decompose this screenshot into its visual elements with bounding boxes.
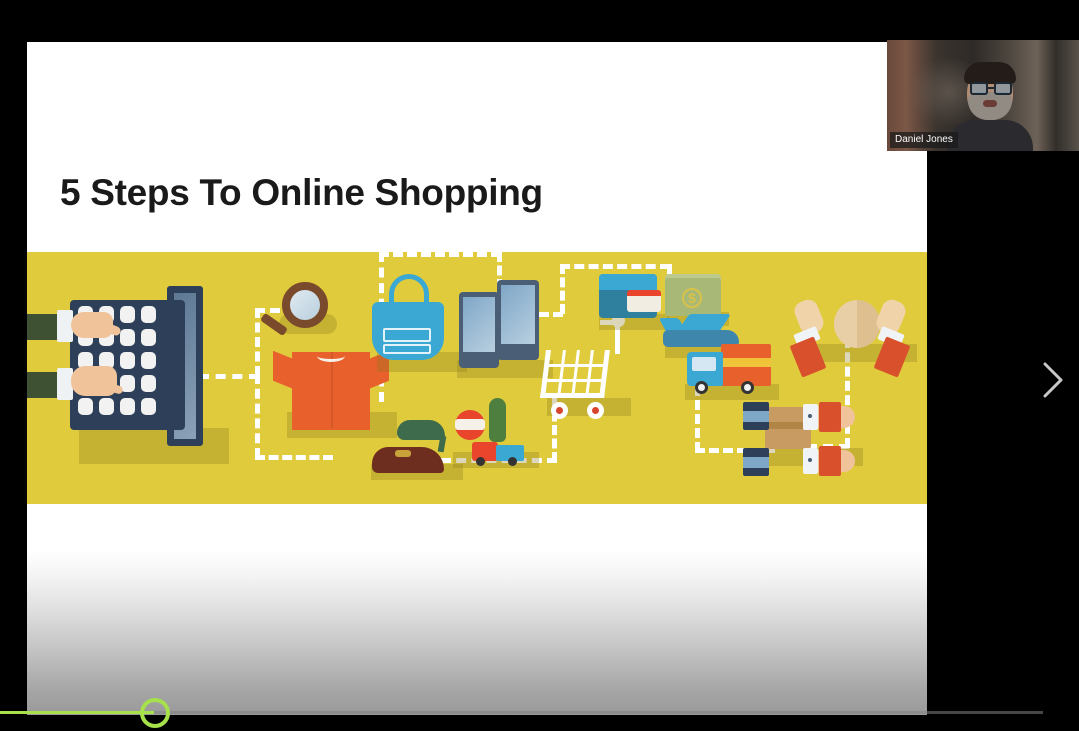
toy-wheel xyxy=(476,457,485,466)
eyeglasses-bridge xyxy=(988,87,994,89)
participant-hair xyxy=(964,62,1016,84)
dashed-path-segment xyxy=(255,374,260,458)
toy-wheel xyxy=(508,457,517,466)
eyeglasses-icon xyxy=(970,82,988,95)
dashed-path-segment xyxy=(560,264,565,314)
sleeve xyxy=(790,336,827,377)
tablet-icon xyxy=(497,280,539,360)
webcam-participant xyxy=(947,62,1033,151)
cuff-button xyxy=(808,414,812,418)
tshirt-seam xyxy=(331,352,333,428)
sleeve xyxy=(819,446,841,476)
search-icon xyxy=(282,282,328,328)
webcam-video-tile[interactable]: Daniel Jones xyxy=(887,40,1079,151)
cart-wheel xyxy=(587,402,604,419)
smartphone-icon xyxy=(459,292,499,368)
box-label xyxy=(743,457,769,468)
wallet-flap xyxy=(599,274,657,290)
shadow xyxy=(79,428,229,464)
dollar-sign-icon: $ xyxy=(682,288,702,308)
bowling-pin-toy-icon xyxy=(489,398,506,442)
sleeve xyxy=(27,314,59,340)
tshirt-collar xyxy=(317,350,345,362)
dashed-path-segment xyxy=(255,308,260,376)
high-heel-shoe-icon xyxy=(397,420,445,440)
truck-window xyxy=(692,357,716,371)
presentation-progress-fill xyxy=(0,711,154,714)
slide-header-area: 5 Steps To Online Shopping xyxy=(27,42,927,252)
device-screen xyxy=(501,285,535,344)
progress-handle-circle[interactable] xyxy=(140,698,170,728)
truck-wheel xyxy=(695,381,708,394)
device-screen xyxy=(463,297,495,352)
sleeve xyxy=(874,336,911,377)
box-label xyxy=(743,411,769,422)
ball-stripe xyxy=(455,419,485,430)
sleeve xyxy=(819,402,841,432)
illustration-band: $ xyxy=(27,252,927,504)
dashed-path-segment xyxy=(379,252,501,257)
truck-wheel xyxy=(741,381,754,394)
truck-stripe xyxy=(721,358,771,367)
participant-torso xyxy=(947,120,1033,151)
sleeve xyxy=(27,372,59,398)
shoe-heel xyxy=(438,436,447,453)
shopping-cart-icon xyxy=(540,350,610,398)
wallet-clasp xyxy=(633,300,644,311)
dashed-path-segment xyxy=(255,455,333,460)
shoe-buckle xyxy=(395,450,411,457)
slide-footer-area: ©2020 Daniel Jones. All rights reserved. xyxy=(27,504,927,715)
page-title: 5 Steps To Online Shopping xyxy=(60,172,543,214)
credit-card-icon xyxy=(627,290,661,312)
next-slide-button[interactable] xyxy=(1040,360,1066,400)
eyeglasses-icon xyxy=(994,82,1012,95)
handbag-detail xyxy=(383,328,431,342)
dashed-path-segment xyxy=(560,264,670,269)
cart-wheel xyxy=(551,402,568,419)
dashed-path-segment xyxy=(199,374,259,379)
presentation-viewer: 5 Steps To Online Shopping xyxy=(0,0,1079,731)
participant-mouth xyxy=(983,100,997,107)
chevron-right-icon xyxy=(1040,360,1066,400)
cuff-button xyxy=(808,458,812,462)
slide-canvas[interactable]: 5 Steps To Online Shopping xyxy=(27,42,927,715)
handbag-detail xyxy=(383,344,431,354)
participant-name-label: Daniel Jones xyxy=(890,132,958,148)
